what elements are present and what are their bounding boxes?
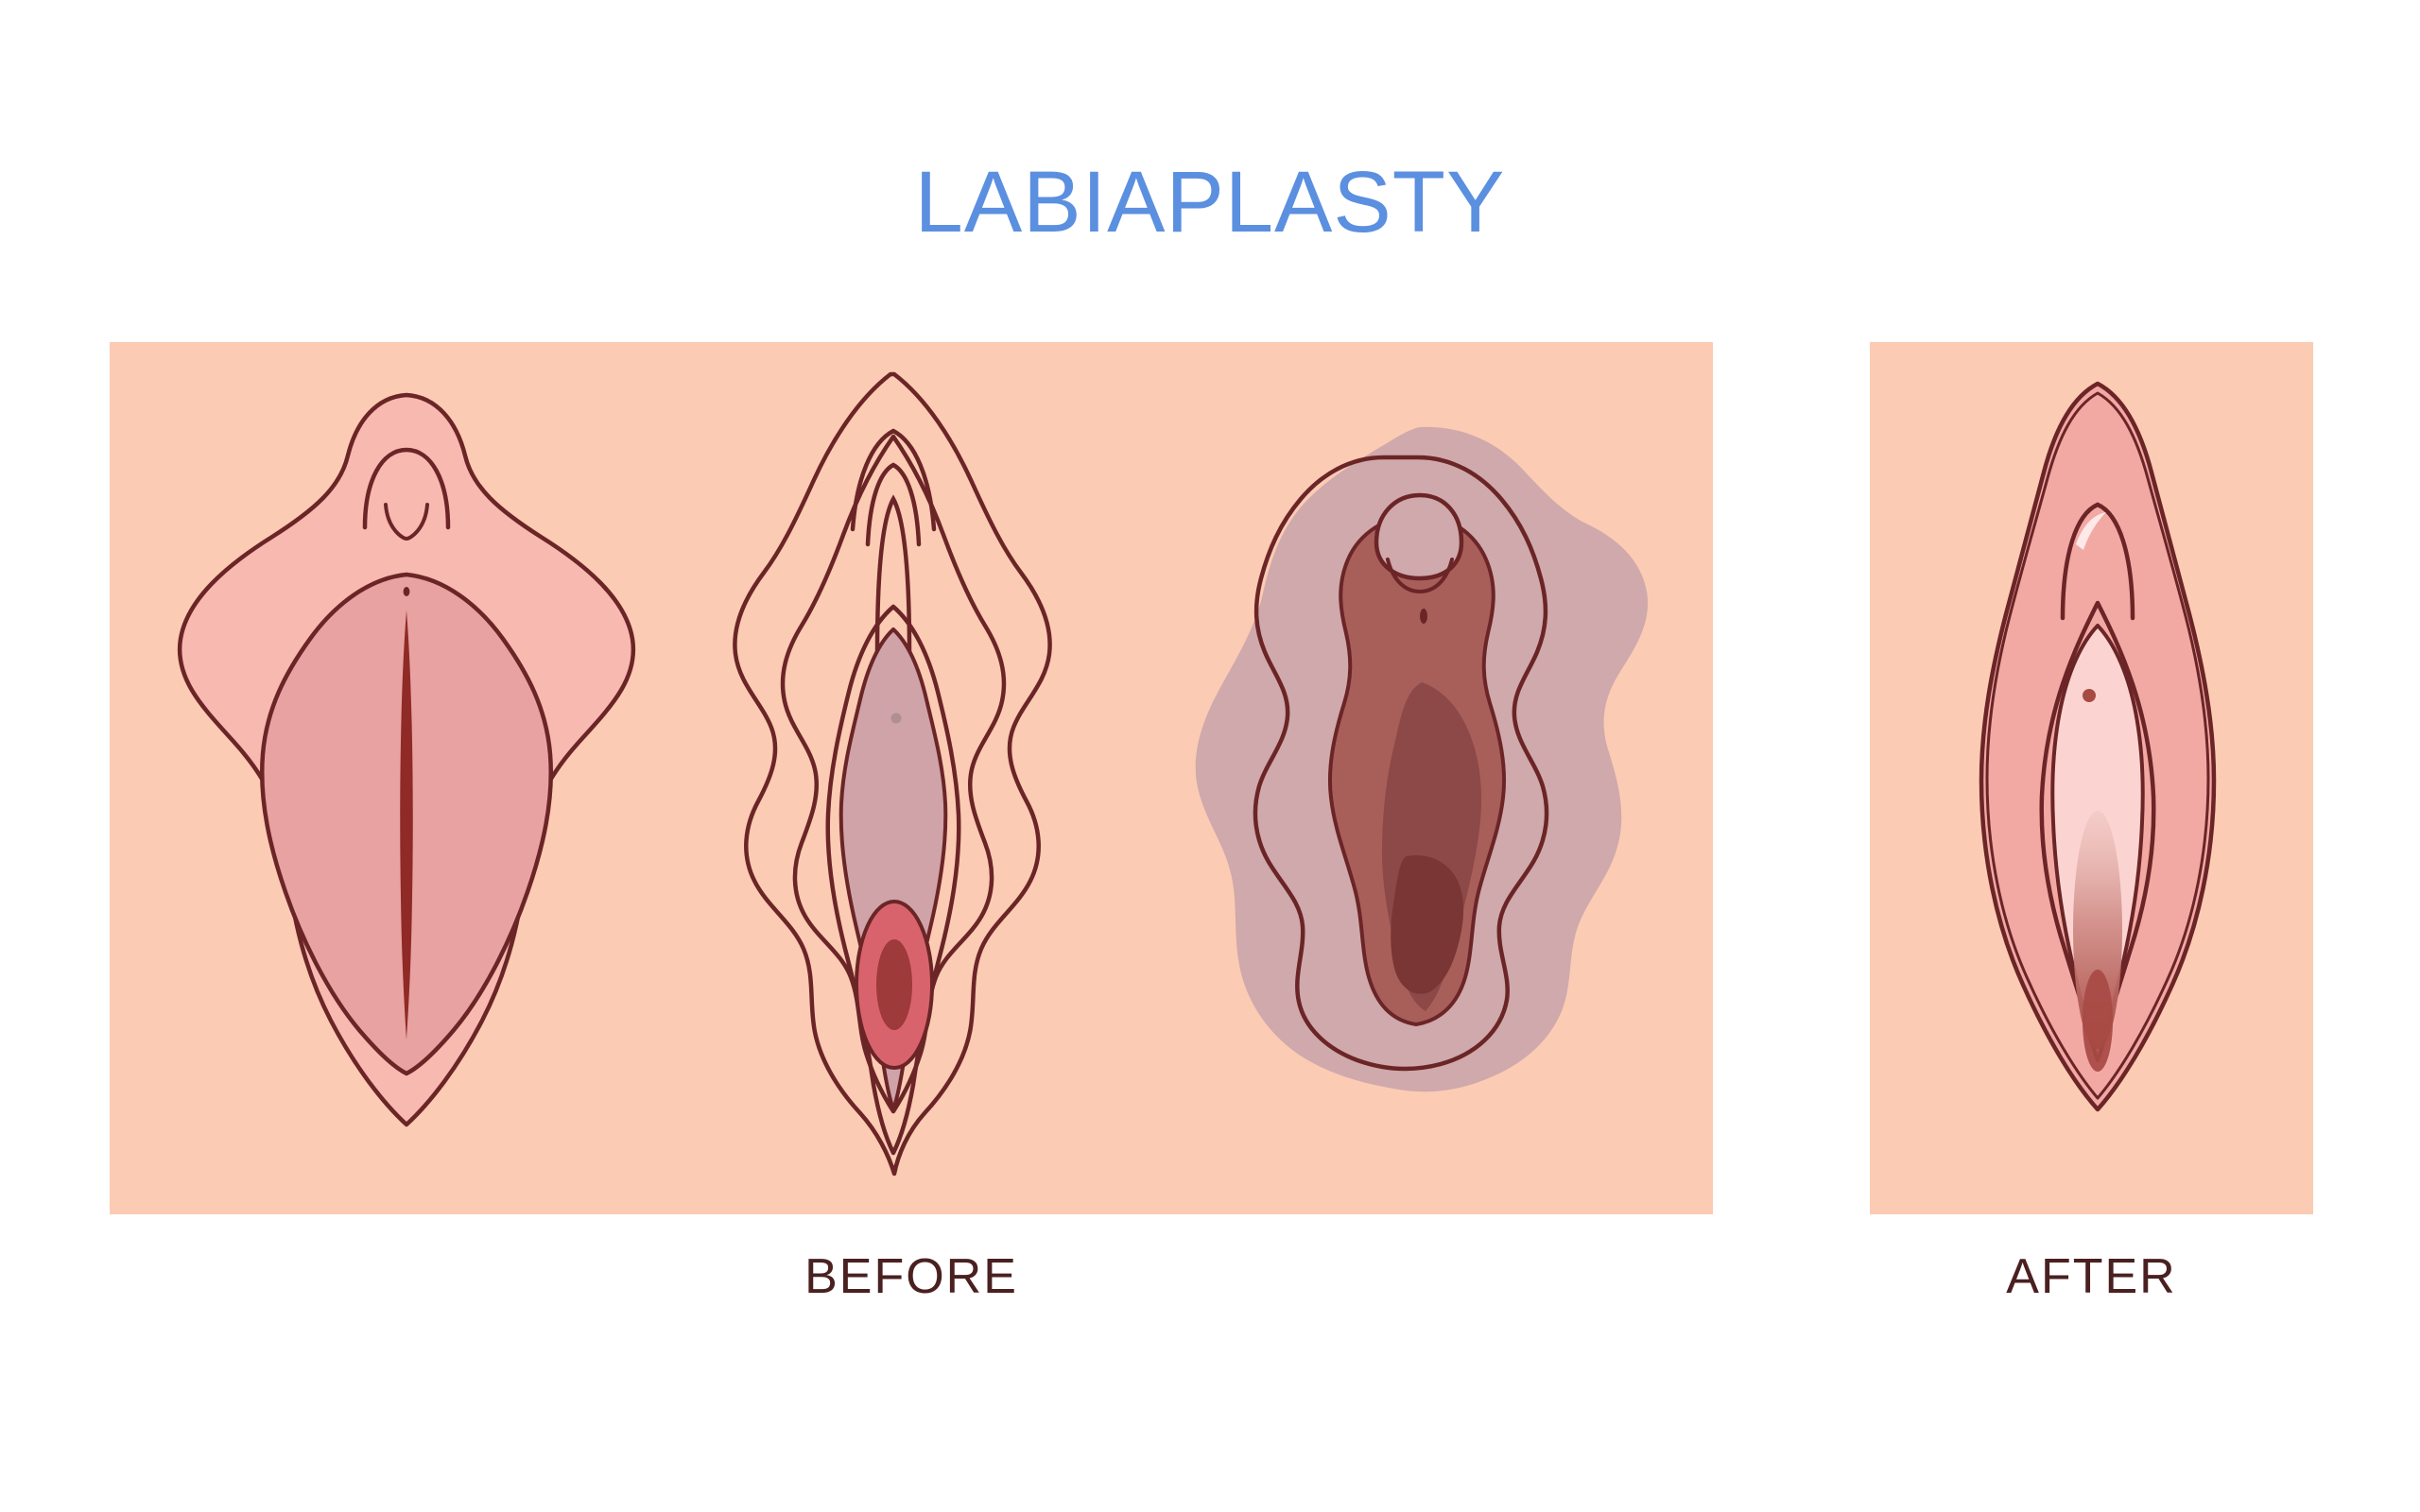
figure-normal-anatomy bbox=[170, 369, 643, 1200]
urethral-opening-dot bbox=[1420, 609, 1427, 624]
caption-before: BEFORE bbox=[110, 1252, 1713, 1301]
figure-post-surgical-result bbox=[1964, 367, 2231, 1200]
page-title: LABIAPLASTY bbox=[0, 159, 2420, 246]
urethral-opening-dot bbox=[891, 713, 902, 724]
caption-after: AFTER bbox=[1870, 1252, 2313, 1301]
figure-severe-hypertrophy bbox=[1182, 416, 1654, 1172]
figure-moderate-hypertrophy bbox=[718, 350, 1059, 1200]
urethral-opening-dot bbox=[404, 587, 410, 596]
urethral-opening-dot bbox=[2083, 689, 2096, 702]
vaginal-opening-core bbox=[2083, 970, 2113, 1072]
vaginal-opening-core bbox=[876, 939, 912, 1030]
labiaplasty-infographic: LABIAPLASTY bbox=[0, 0, 2420, 1512]
